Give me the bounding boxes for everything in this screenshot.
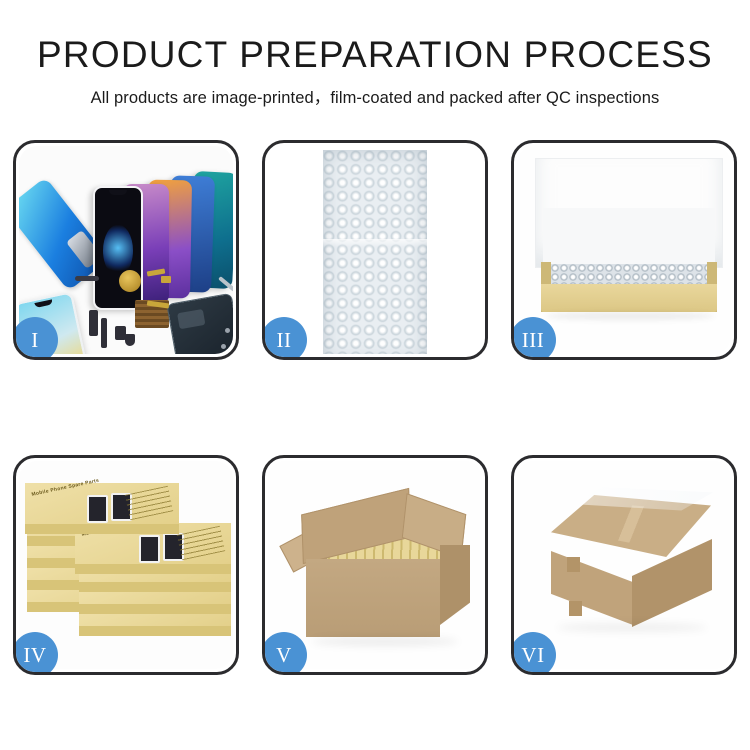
step-card-5: V <box>262 455 488 675</box>
stacked-box-labeled-top: Mobile Phone Spare Parts <box>25 483 179 525</box>
earpiece-mesh <box>75 276 99 281</box>
step-badge-3: III <box>511 317 556 360</box>
speaker-coil <box>119 270 141 292</box>
step-card-2: II <box>262 140 488 360</box>
page-subtitle: All products are image-printed，film-coat… <box>0 84 750 108</box>
carton-front <box>306 559 440 637</box>
notch <box>109 190 127 195</box>
step-card-1: I <box>13 140 239 360</box>
process-steps-grid: I II <box>13 140 737 680</box>
box-shadow <box>545 312 715 320</box>
notch <box>34 299 53 308</box>
step-badge-6: VI <box>511 632 556 675</box>
bubble-wrap-roll <box>323 150 427 354</box>
gold-flex-2 <box>161 276 171 283</box>
step-badge-1: I <box>13 317 58 360</box>
screw-3 <box>221 344 226 349</box>
box-screen-photo-a <box>139 535 160 563</box>
flex-cable-2 <box>101 318 107 348</box>
screw-1 <box>225 328 230 333</box>
vibrator <box>125 334 135 346</box>
flex-cable-1 <box>89 310 98 336</box>
step-badge-4: IV <box>13 632 58 675</box>
carton-tab-lower <box>569 601 582 616</box>
step-frame: II <box>262 140 488 360</box>
step-badge-5: V <box>262 632 307 675</box>
step-card-3: III <box>511 140 737 360</box>
step-frame: III <box>511 140 737 360</box>
carton-shadow <box>557 623 707 632</box>
box-front-panel <box>541 284 717 312</box>
step-badge-2: II <box>262 317 307 360</box>
carton-side <box>440 545 470 625</box>
box-screen-photo-a <box>87 495 108 523</box>
step-frame: VI <box>511 455 737 675</box>
step-card-6: VI <box>511 455 737 675</box>
tweezers <box>218 276 233 292</box>
step-frame: I <box>13 140 239 360</box>
spare-parts-cluster <box>75 264 233 354</box>
step-frame: Mobile Phone Spare Parts Mobile Phone Sp… <box>13 455 239 675</box>
carton-face-left <box>551 551 633 625</box>
carton-shadow <box>312 637 458 646</box>
carton-tab-upper <box>567 557 580 572</box>
step-card-4: Mobile Phone Spare Parts Mobile Phone Sp… <box>13 455 239 675</box>
page-title: PRODUCT PREPARATION PROCESS <box>0 34 750 76</box>
step-frame: V <box>262 455 488 675</box>
box-interior <box>543 208 715 270</box>
infographic-page: PRODUCT PREPARATION PROCESS All products… <box>0 0 750 750</box>
